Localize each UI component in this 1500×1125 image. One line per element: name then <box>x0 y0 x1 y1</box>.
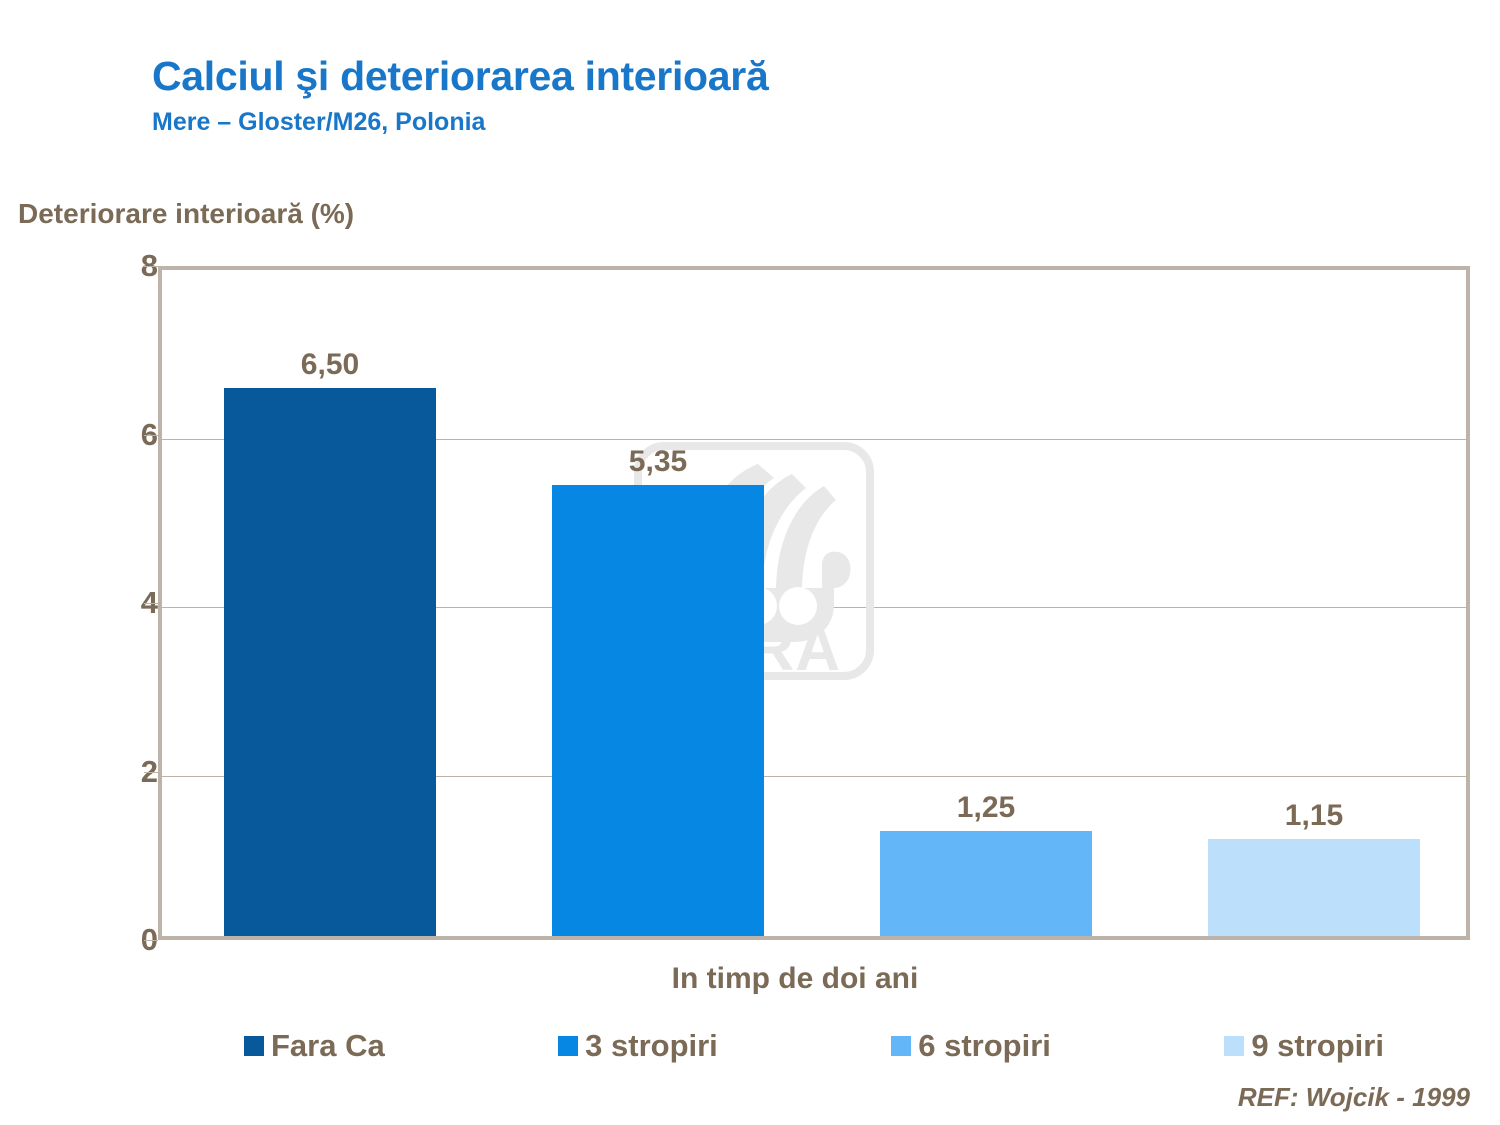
legend-swatch-icon <box>558 1036 578 1056</box>
legend-item-1[interactable]: Fara Ca <box>244 1028 385 1064</box>
chart-legend: Fara Ca3 stropiri6 stropiri9 stropiri <box>158 1028 1470 1064</box>
legend-label: 6 stropiri <box>918 1028 1051 1064</box>
x-axis-title-text: In timp de doi ani <box>582 962 919 995</box>
bar-value-label: 1,15 <box>1208 799 1420 833</box>
legend-label: 3 stropiri <box>585 1028 718 1064</box>
bar-value-label: 1,25 <box>880 791 1092 825</box>
legend-item-3[interactable]: 6 stropiri <box>891 1028 1051 1064</box>
y-tick-mark <box>144 266 158 267</box>
bar-value-labels: 6,505,351,251,15 <box>162 270 1466 936</box>
y-tick-mark <box>144 603 158 604</box>
legend-swatch-icon <box>244 1036 264 1056</box>
page-subtitle: Mere – Gloster/M26, Polonia <box>152 108 768 137</box>
y-axis-title: Deteriorare interioară (%) <box>18 198 354 230</box>
bar-value-label: 6,50 <box>224 348 436 382</box>
legend-swatch-icon <box>1224 1036 1244 1056</box>
y-axis-ticks: 02468 <box>90 266 158 940</box>
plot-area: YARA 6,505,351,251,15 <box>158 266 1470 940</box>
plot-inner: YARA 6,505,351,251,15 <box>162 270 1466 936</box>
page-title: Calciul şi deteriorarea interioară <box>152 56 768 97</box>
y-tick-mark <box>144 940 158 941</box>
legend-label: Fara Ca <box>271 1028 385 1064</box>
legend-item-2[interactable]: 3 stropiri <box>558 1028 718 1064</box>
x-axis-title: In timp de doi ani <box>0 962 1500 996</box>
legend-label: 9 stropiri <box>1251 1028 1384 1064</box>
title-block: Calciul şi deteriorarea interioară Mere … <box>152 56 768 137</box>
y-tick-mark <box>144 772 158 773</box>
reference-note: REF: Wojcik - 1999 <box>1238 1082 1470 1113</box>
legend-item-4[interactable]: 9 stropiri <box>1224 1028 1384 1064</box>
bar-value-label: 5,35 <box>552 445 764 479</box>
y-tick-mark <box>144 435 158 436</box>
legend-swatch-icon <box>891 1036 911 1056</box>
